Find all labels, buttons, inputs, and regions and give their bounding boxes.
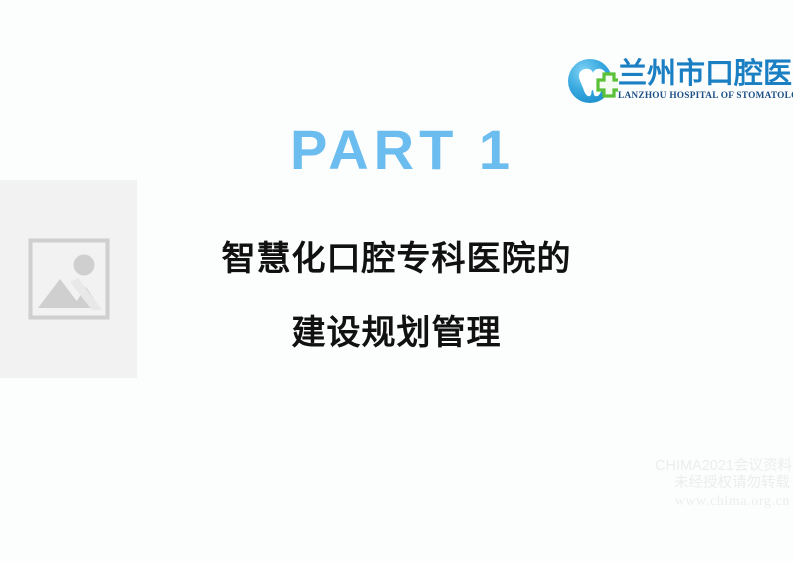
section-title-line-2: 建设规划管理 — [0, 311, 793, 355]
logo-text-block: 兰州市口腔医院 LANZHOU HOSPITAL OF STOMATOLOGY — [618, 58, 793, 102]
section-title-line-1: 智慧化口腔专科医院的 — [0, 237, 793, 281]
watermark-line-3: www.chima.org.cn — [655, 493, 790, 510]
section-part-label: PART 1 — [6, 116, 793, 184]
logo-name-cn: 兰州市口腔医院 — [618, 58, 793, 90]
logo-name-en: LANZHOU HOSPITAL OF STOMATOLOGY — [618, 91, 793, 102]
watermark-line-1: CHIMA2021会议资料 — [655, 458, 790, 475]
watermark: CHIMA2021会议资料 未经授权请勿转载 www.chima.org.cn — [655, 458, 790, 510]
tooth-cross-logo-icon — [566, 56, 618, 108]
slide-canvas: 兰州市口腔医院 LANZHOU HOSPITAL OF STOMATOLOGY … — [0, 0, 793, 561]
watermark-line-2: 未经授权请勿转载 — [655, 475, 790, 492]
hospital-logo: 兰州市口腔医院 LANZHOU HOSPITAL OF STOMATOLOGY — [566, 56, 793, 114]
